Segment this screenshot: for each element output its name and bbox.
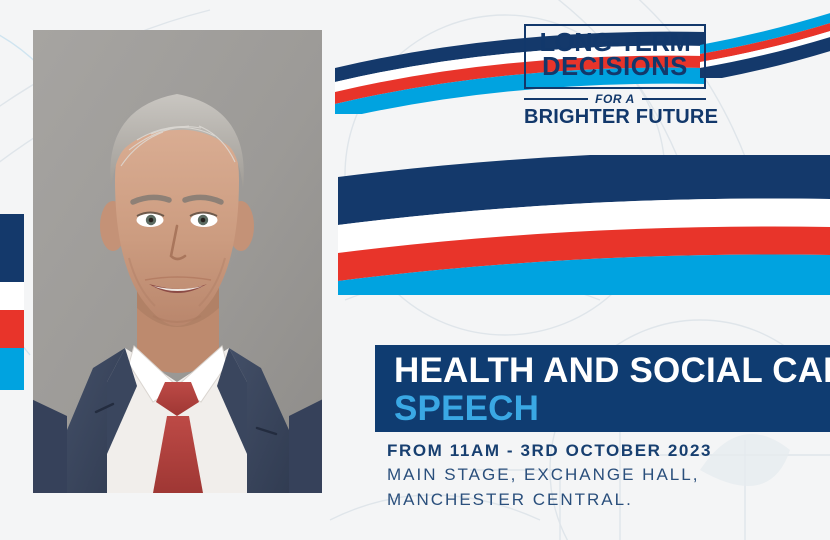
logo-connector-text: FOR A bbox=[595, 92, 635, 106]
event-venue-line-2: MANCHESTER CENTRAL. bbox=[387, 488, 712, 513]
logo-rule-right bbox=[642, 98, 706, 100]
logo-line-decisions: DECISIONS bbox=[532, 55, 698, 81]
logo-connector-row: FOR A bbox=[524, 92, 706, 106]
event-subtitle: SPEECH bbox=[394, 391, 539, 426]
ribbon-top-right bbox=[700, 8, 830, 78]
event-time: FROM 11AM - 3RD OCTOBER 2023 bbox=[387, 440, 712, 463]
event-venue-line-1: MAIN STAGE, EXCHANGE HALL, bbox=[387, 463, 712, 488]
logo-line-long-term: LONG-TERM bbox=[532, 31, 698, 55]
campaign-logo: LONG-TERM DECISIONS FOR A BRIGHTER FUTUR… bbox=[524, 24, 706, 128]
ribbon-left-edge bbox=[0, 212, 24, 390]
event-details: FROM 11AM - 3RD OCTOBER 2023 MAIN STAGE,… bbox=[387, 440, 712, 512]
logo-line-brighter-future: BRIGHTER FUTURE bbox=[524, 107, 706, 128]
event-title: HEALTH AND SOCIAL CARE bbox=[394, 353, 830, 388]
title-banner: HEALTH AND SOCIAL CARE SPEECH bbox=[375, 345, 830, 432]
ribbon-main bbox=[336, 155, 830, 295]
logo-box: LONG-TERM DECISIONS bbox=[524, 24, 706, 89]
event-poster: LONG-TERM DECISIONS FOR A BRIGHTER FUTUR… bbox=[0, 0, 830, 540]
portrait-photo bbox=[33, 30, 322, 493]
logo-rule-left bbox=[524, 98, 588, 100]
